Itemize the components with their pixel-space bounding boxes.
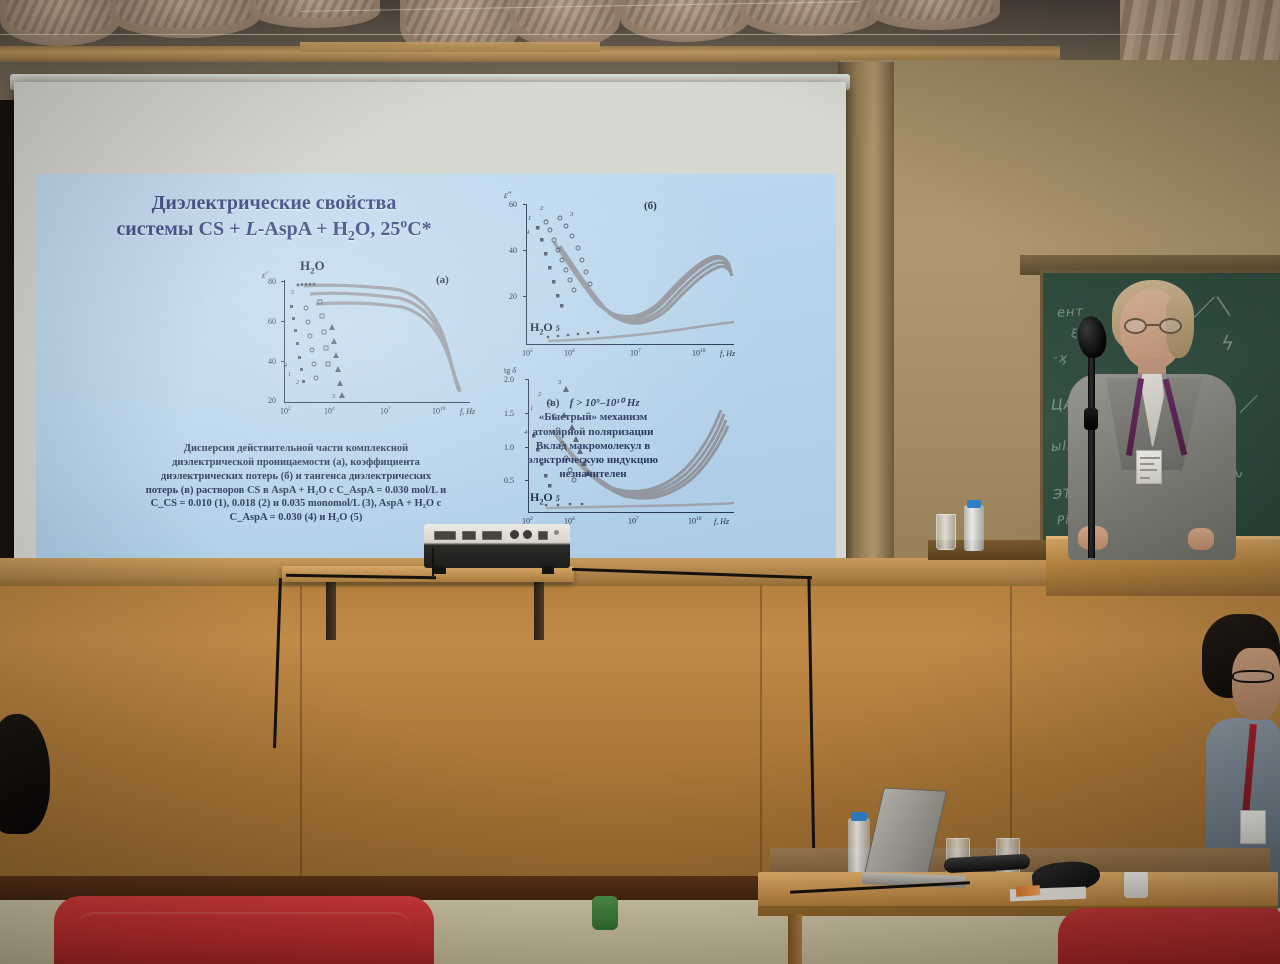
- wall-pillar: [838, 62, 894, 572]
- slide-title-line2: системы CS + L-AspA + H2O, 25oC*: [116, 218, 431, 240]
- glasses-icon: [1232, 670, 1274, 683]
- projector-port: [434, 531, 456, 540]
- projector-port: [482, 531, 502, 540]
- svg-text:3: 3: [557, 379, 562, 386]
- bottle-cap: [967, 500, 981, 508]
- shelf-bracket: [326, 578, 336, 640]
- caption-line: потерь (в) растворов CS в AspA + H₂O с C…: [96, 484, 496, 498]
- small-object: [1016, 885, 1041, 897]
- annotation-panel-letter: (в): [546, 397, 559, 409]
- table-leg: [788, 914, 802, 964]
- caption-line: C_CS = 0.010 (1), 0.018 (2) и 0.035 mono…: [96, 497, 496, 511]
- ceiling-beam: [300, 42, 600, 52]
- slide-annotation: (в)f > 10⁹–10¹⁰ Hz «Быстрый» механизм ат…: [488, 396, 698, 482]
- microphone-stand: [1088, 328, 1095, 558]
- microphone-stand-joint: [1084, 408, 1098, 430]
- stage-small-object: [592, 896, 618, 930]
- svg-text:2: 2: [540, 205, 544, 212]
- audience-face: [1232, 648, 1280, 720]
- water-bottle: [964, 505, 984, 551]
- chart-a-curves: 51 23 4: [264, 272, 484, 432]
- slide-title: Диэлектрические свойства системы CS + L-…: [64, 192, 484, 244]
- slide-title-line1: Диэлектрические свойства: [152, 192, 397, 214]
- drinking-glass: [936, 514, 956, 550]
- svg-text:4: 4: [284, 362, 287, 369]
- chart-b-curves: 21 34: [502, 194, 742, 374]
- shelf-bracket: [534, 578, 544, 640]
- annotation-line: незначителен: [488, 467, 698, 481]
- hanging-wire: [0, 34, 1180, 35]
- projector-foot: [542, 566, 554, 574]
- annotation-heading: (в)f > 10⁹–10¹⁰ Hz: [488, 396, 698, 410]
- stage-front-panel: [0, 586, 1280, 886]
- projector-knob: [510, 530, 519, 539]
- photo-scene: ент ξ ᵕϗ ЦАК ыlbx ЭТК Pi ⟋⟍ ϟ ⟋ ⌐∿ Диэле…: [0, 0, 1280, 964]
- caption-line: диэлектрической проницаемости (а), коэфф…: [96, 456, 496, 470]
- caption-line: диэлектрических потерь (б) и тангенса ди…: [96, 470, 496, 484]
- glasses-icon: [1124, 318, 1182, 334]
- svg-text:2: 2: [296, 380, 299, 386]
- auditorium-seat: [1058, 908, 1280, 964]
- conference-badge: [1240, 810, 1266, 844]
- white-cup: [1124, 872, 1148, 898]
- projector-port: [538, 531, 548, 540]
- annotation-line: «Быстрый» механизм: [488, 410, 698, 424]
- annotation-formula: f > 10⁹–10¹⁰ Hz: [570, 397, 640, 409]
- annotation-line: электрическую индукцию: [488, 453, 698, 467]
- projector-indicator: [554, 530, 559, 535]
- projector-knob: [523, 530, 532, 539]
- conference-badge: [1136, 450, 1162, 484]
- slide-caption: Дисперсия действительной части комплексн…: [96, 442, 496, 525]
- presenter-hand: [1188, 528, 1214, 550]
- projection-screen: Диэлектрические свойства системы CS + L-…: [14, 82, 846, 564]
- chart-panel-b: ε" (б) 60 40 20 H2O 5 102 104 107 1010 f…: [502, 194, 742, 374]
- bottle-cap: [851, 812, 867, 821]
- chart-panel-a: ε' H2O (а) 80 60 40 20 102 104 107 1010 …: [264, 272, 484, 432]
- projector-cable: [432, 548, 434, 576]
- svg-text:3: 3: [569, 211, 574, 218]
- auditorium-seat: [54, 896, 434, 964]
- projector-foot: [434, 566, 446, 574]
- projector-port: [462, 531, 476, 540]
- caption-line: Дисперсия действительной части комплексн…: [96, 442, 496, 456]
- annotation-line: Вклад макромолекул в: [488, 439, 698, 453]
- svg-text:4: 4: [526, 229, 530, 236]
- svg-text:1: 1: [288, 372, 291, 378]
- projector: [424, 524, 570, 568]
- svg-text:1: 1: [528, 215, 531, 222]
- annotation-line: атомарной поляризации: [488, 425, 698, 439]
- svg-text:5: 5: [291, 290, 294, 296]
- svg-text:3: 3: [331, 394, 335, 400]
